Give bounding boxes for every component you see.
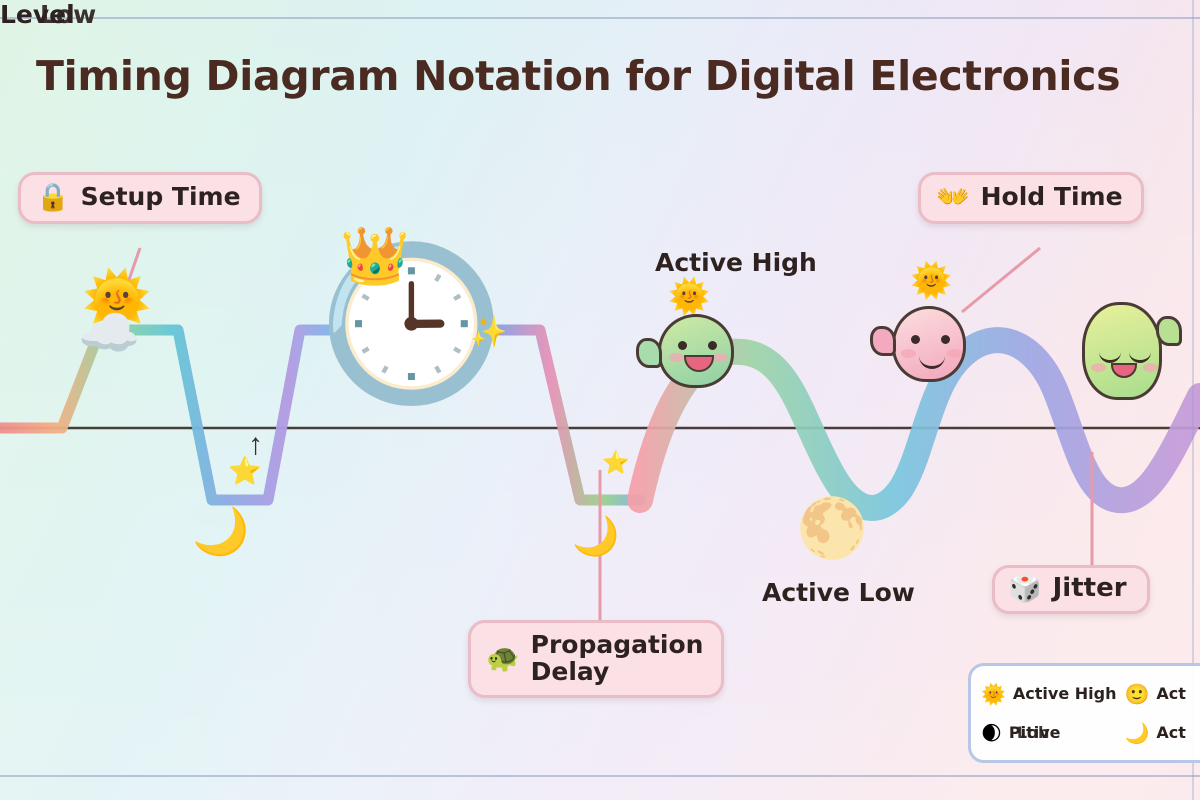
callout-hold-time[interactable]: 👐 Hold Time: [918, 172, 1144, 224]
crescent-moon-icon: 🌙: [192, 508, 249, 554]
legend-box: 🌞 Active High 🙂 Act 🌒 Pitive Loh 🌙 Act: [968, 663, 1200, 763]
page-title: Timing Diagram Notation for Digital Elec…: [36, 52, 1196, 100]
sun-hat-icon: 🌞: [668, 280, 710, 314]
open-hands-icon: 👐: [936, 184, 970, 211]
sparkle-icon: ✨: [470, 318, 507, 348]
callout-setup-time[interactable]: 🔒 Setup Time: [18, 172, 262, 224]
callout-jitter-label: Jitter: [1053, 575, 1127, 603]
star-icon: ⭐: [228, 458, 262, 485]
legend-label-part-b: Loh: [1017, 723, 1050, 742]
crescent-moon-icon-2: 🌙: [572, 518, 619, 556]
legend-item-active-low: 🌒 Pitive Loh: [981, 714, 1116, 751]
leader-hold: [962, 248, 1040, 312]
turtle-icon: 🐢: [486, 645, 520, 672]
legend-label-active-4: Act: [1156, 723, 1186, 742]
crescent-moon-icon: 🌙: [1124, 723, 1149, 743]
worm-arm: [636, 338, 662, 368]
sun-with-face-icon: 🌞 ☁️: [82, 272, 152, 328]
callout-setup-time-label: Setup Time: [81, 184, 241, 211]
legend-item-active-high: 🌞 Active High: [981, 675, 1116, 712]
worm-arm-3: [1156, 316, 1182, 346]
diagram-canvas: Timing Diagram Notation for Digital Elec…: [0, 0, 1200, 800]
label-active-high: Active High: [655, 248, 817, 277]
game-die-icon: 🎲: [1008, 575, 1042, 602]
worm-face-3: [1082, 302, 1162, 400]
worm-face-2: [892, 306, 966, 382]
label-active-low: Active Low: [762, 578, 915, 607]
rising-arrow-icon: ↑: [248, 430, 263, 460]
full-moon-character: 🌕: [796, 500, 868, 558]
frame-top-line: [0, 17, 1200, 19]
star-icon-2: ⭐: [602, 452, 629, 474]
callout-propagation-delay-label: Propagation Delay: [531, 632, 704, 685]
waning-crescent-moon-icon: 🌒: [981, 723, 1002, 743]
callout-propagation-delay[interactable]: 🐢 Propagation Delay: [468, 620, 724, 698]
legend-label-active-low-overlap: Pitive Loh: [1009, 723, 1101, 743]
callout-hold-time-label: Hold Time: [981, 184, 1123, 211]
frame-bottom-line: [0, 775, 1200, 777]
label-low: Low: [40, 0, 96, 29]
sun-with-face-icon: 🌞: [981, 684, 1006, 704]
cloud-icon: ☁️: [78, 308, 140, 358]
sun-hat-icon-2: 🌞: [910, 264, 952, 298]
smiling-face-icon: 🙂: [1124, 684, 1149, 704]
callout-jitter[interactable]: 🎲 Jitter: [992, 565, 1150, 614]
worm-face: [658, 314, 734, 388]
legend-item-active-4: 🌙 Act: [1124, 714, 1200, 751]
legend-label-active-2: Act: [1156, 684, 1186, 703]
crown-icon: 👑: [340, 228, 410, 284]
worm-arm-2: [870, 326, 896, 356]
lock-icon: 🔒: [36, 184, 70, 211]
legend-item-active-2: 🙂 Act: [1124, 675, 1200, 712]
legend-label-active-high: Active High: [1013, 684, 1117, 703]
